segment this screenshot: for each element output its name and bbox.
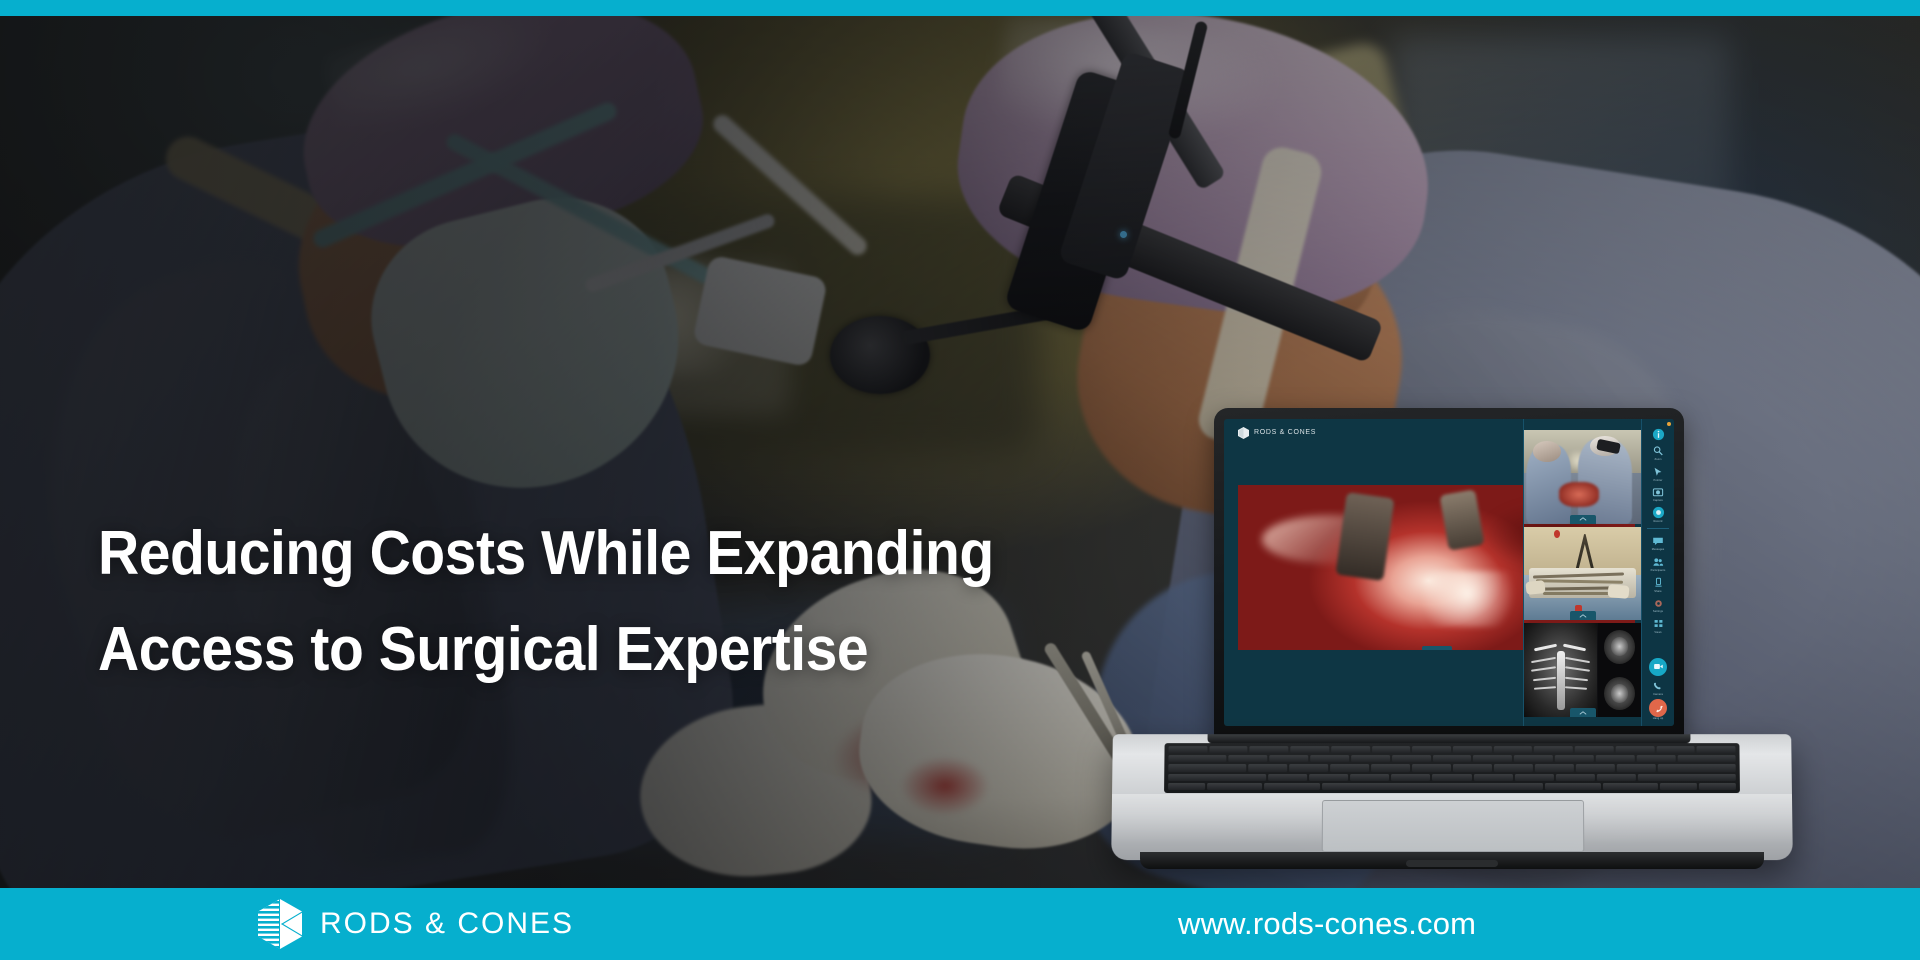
- rib: [1533, 676, 1556, 680]
- keyboard-row: [1168, 764, 1735, 771]
- microscope-icon: [1651, 444, 1665, 458]
- laptop-screen: RODS & CONES: [1224, 419, 1674, 726]
- headline-line-2: Access to Surgical Expertise: [98, 602, 994, 698]
- footer-logo[interactable]: RODS & CONES: [258, 899, 574, 949]
- toolbar-label: Share: [1654, 591, 1661, 594]
- share-icon: [1651, 576, 1665, 590]
- top-accent-bar: [0, 0, 1920, 16]
- thumbnail-collapse-tab-3[interactable]: [1570, 708, 1596, 717]
- ct-inner-structure: [1611, 637, 1628, 656]
- video-instrument: [1336, 492, 1395, 580]
- phone-icon: [1651, 679, 1665, 693]
- laptop-mockup: RODS & CONES: [1112, 408, 1792, 888]
- toolbar-item-pointer[interactable]: Pointer: [1642, 465, 1674, 483]
- toolbar-item-capture[interactable]: Capture: [1642, 485, 1674, 503]
- laptop-open-notch: [1406, 860, 1498, 867]
- record-icon: [1651, 506, 1665, 520]
- hexagon-logo-icon: [258, 899, 302, 949]
- spine: [1557, 651, 1564, 709]
- thumbnail-collapse-tab-1[interactable]: [1570, 515, 1596, 524]
- rib: [1565, 667, 1590, 672]
- toolbar-label: Camera: [1653, 694, 1663, 697]
- toolbar-item-share[interactable]: Share: [1642, 576, 1674, 594]
- toolbar-label: Record: [1654, 521, 1663, 524]
- website-url[interactable]: www.rods-cones.com: [1178, 906, 1476, 942]
- thumbnail-collapse-tab-2[interactable]: [1570, 611, 1596, 620]
- more-options[interactable]: Camera: [1642, 679, 1674, 697]
- clavicle-left: [1534, 643, 1557, 651]
- laptop-front-edge: [1140, 852, 1764, 869]
- tray-pack-1: [1526, 580, 1546, 595]
- toolbar-item-zoom[interactable]: Zoom: [1642, 444, 1674, 462]
- app-brand-name: RODS & CONES: [1254, 429, 1316, 436]
- toolbar-label: Capture: [1653, 500, 1663, 503]
- toolbar-item-record[interactable]: Record: [1642, 506, 1674, 524]
- laptop-base: [1111, 734, 1793, 860]
- laptop-hinge: [1208, 734, 1691, 743]
- toolbar-label: Settings: [1653, 611, 1663, 614]
- thumbnail-column: [1523, 419, 1641, 726]
- ct-slices: [1597, 623, 1641, 717]
- rib: [1534, 686, 1556, 690]
- chest-xray: [1524, 623, 1597, 717]
- rib: [1565, 676, 1588, 680]
- video-instrument-2: [1440, 489, 1485, 550]
- toolbar-item-views[interactable]: Views: [1642, 617, 1674, 635]
- rib: [1531, 657, 1556, 663]
- toolbar-label: Hang up: [1653, 718, 1664, 721]
- messages-icon: [1651, 534, 1665, 548]
- tray-pack-2: [1608, 584, 1630, 599]
- app-toolbar: Zoom Pointer: [1641, 419, 1674, 726]
- radiology-view[interactable]: [1524, 623, 1641, 717]
- capture-icon: [1651, 485, 1665, 499]
- ct-slice-lower: [1597, 670, 1641, 717]
- chevron-up-icon: [1579, 711, 1587, 715]
- headline-line-1: Reducing Costs While Expanding: [98, 506, 994, 602]
- ct-inner-structure: [1611, 684, 1628, 703]
- camera-icon: [1649, 658, 1667, 676]
- toolbar-item-participants[interactable]: Participants: [1642, 555, 1674, 573]
- grid-icon: [1651, 617, 1665, 631]
- rib: [1531, 667, 1556, 672]
- end-call-icon: [1649, 699, 1667, 717]
- brand-name: RODS & CONES: [320, 907, 574, 941]
- headline: Reducing Costs While Expanding Access to…: [98, 506, 994, 698]
- tray-instrument-4: [1543, 592, 1613, 595]
- toolbar-label: Messages: [1652, 549, 1665, 552]
- main-feed-collapse-tab[interactable]: [1422, 646, 1452, 650]
- toolbar-label: Views: [1654, 632, 1661, 635]
- footer-bar: RODS & CONES www.rods-cones.com: [0, 888, 1920, 960]
- toolbar-item-settings[interactable]: Settings: [1642, 596, 1674, 614]
- rib: [1565, 686, 1587, 690]
- clavicle-right: [1563, 643, 1586, 651]
- instrument-tray-view[interactable]: [1524, 527, 1641, 621]
- app-header: RODS & CONES: [1224, 419, 1674, 445]
- hexagon-logo-icon: [1238, 426, 1249, 438]
- participants-icon: [1651, 555, 1665, 569]
- toolbar-item-messages[interactable]: Messages: [1642, 534, 1674, 552]
- toolbar-divider: [1647, 528, 1669, 529]
- chevron-up-icon: [1579, 614, 1587, 618]
- laptop-lid: RODS & CONES: [1214, 408, 1684, 738]
- end-call[interactable]: Hang up: [1642, 699, 1674, 721]
- pointer-icon: [1651, 465, 1665, 479]
- rib: [1565, 657, 1590, 663]
- laptop-keyboard[interactable]: [1164, 743, 1740, 793]
- keyboard-row: [1168, 755, 1735, 762]
- keyboard-row: [1168, 783, 1736, 790]
- toolbar-label: Zoom: [1654, 459, 1661, 462]
- or-surgical-field: [1559, 482, 1599, 506]
- toolbar-label: Participants: [1651, 570, 1666, 573]
- ct-slice-upper: [1597, 623, 1641, 670]
- settings-icon: [1651, 596, 1665, 610]
- chevron-up-icon: [1433, 650, 1441, 651]
- banner-root: Reducing Costs While Expanding Access to…: [0, 0, 1920, 960]
- chevron-up-icon: [1579, 517, 1587, 521]
- video-specular: [1421, 571, 1524, 627]
- keyboard-row: [1168, 746, 1735, 753]
- toolbar-label: Pointer: [1654, 480, 1663, 483]
- keyboard-row: [1168, 774, 1736, 781]
- camera-toggle[interactable]: [1642, 658, 1674, 676]
- laptop-trackpad[interactable]: [1322, 800, 1585, 852]
